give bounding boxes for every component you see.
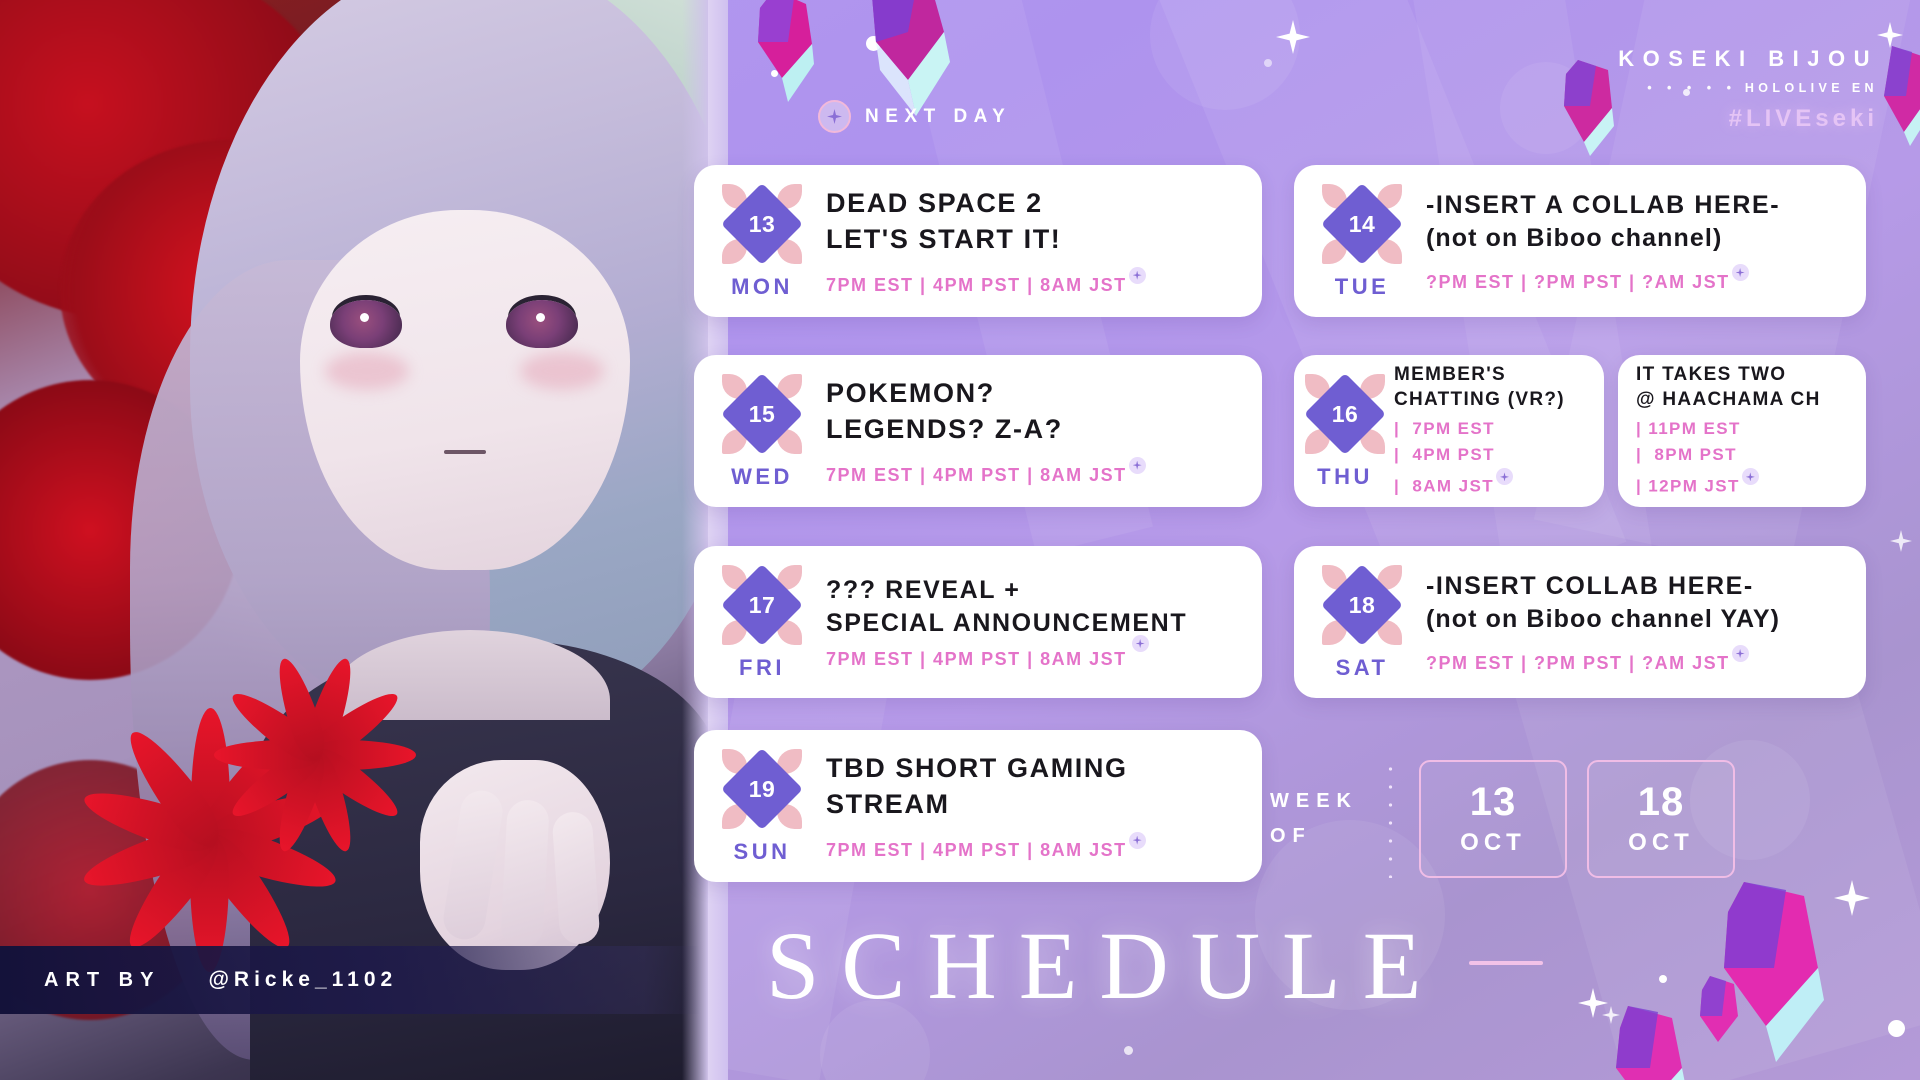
- week-start-month: OCT: [1460, 829, 1526, 857]
- sparkle-icon: [1890, 530, 1912, 552]
- schedule-title-text: SCHEDULE: [766, 918, 1443, 1014]
- date-badge: 16 THU: [1302, 372, 1388, 490]
- stream-title-line: CHATTING (VR?): [1394, 387, 1596, 412]
- date-number: 19: [720, 747, 804, 831]
- week-of-line1: WEEK: [1270, 784, 1358, 819]
- card-body: DEAD SPACE 2 LET'S START IT! 7PM EST | 4…: [814, 186, 1262, 295]
- organization-label: HOLOLIVE EN: [1745, 81, 1878, 95]
- date-badge: 17 FRI: [710, 563, 814, 681]
- character-eye-highlight: [536, 313, 545, 322]
- date-badge: 14 TUE: [1310, 182, 1414, 300]
- crystal-icon: [1594, 1000, 1702, 1080]
- time-row: | 8AM JST: [1394, 468, 1596, 500]
- stream-title-line: IT TAKES TWO: [1636, 362, 1856, 387]
- week-end-month: OCT: [1628, 829, 1694, 857]
- time-row: | 7PM EST: [1394, 416, 1596, 442]
- stream-title-line: SPECIAL ANNOUNCEMENT: [826, 607, 1244, 640]
- panel-divider-strip: [708, 0, 728, 1080]
- week-end-day: 18: [1638, 782, 1685, 822]
- time-row: | 8PM PST: [1636, 442, 1856, 468]
- stream-title-line: @ HAACHAMA CH: [1636, 387, 1856, 412]
- schedule-graphic: ART BY @Ricke_1102 NEXT DAY KOSEKI BIJOU…: [0, 0, 1920, 1080]
- day-name: MON: [731, 274, 793, 300]
- stream-title-line: MEMBER'S: [1394, 362, 1596, 387]
- stream-title-line: ??? REVEAL +: [826, 574, 1244, 607]
- stream-times: 7PM EST | 4PM PST | 8AM JST: [826, 267, 1146, 296]
- day-name: SUN: [734, 839, 791, 865]
- stream-times: | 7PM EST | 4PM PST | 8AM JST: [1394, 416, 1596, 501]
- artwork-edge-fade: [682, 0, 708, 1080]
- character-blush: [325, 352, 409, 390]
- card-body: ??? REVEAL + SPECIAL ANNOUNCEMENT 7PM ES…: [814, 574, 1262, 670]
- day-name: THU: [1317, 464, 1373, 490]
- character-finger: [500, 799, 550, 949]
- decor-dot: [771, 70, 778, 77]
- stream-title-line: (not on Biboo channel): [1426, 222, 1848, 255]
- brand-block: KOSEKI BIJOU • • • • • HOLOLIVE EN #LIVE…: [1618, 46, 1878, 133]
- next-day-indicator: NEXT DAY: [818, 100, 1011, 133]
- sparkle-icon: [1602, 1006, 1620, 1024]
- decor-dot: [1264, 59, 1272, 67]
- day-name: TUE: [1335, 274, 1390, 300]
- crystal-icon: [738, 0, 830, 106]
- schedule-card-sun[interactable]: 19 SUN TBD SHORT GAMING STREAM 7PM EST |…: [694, 730, 1262, 882]
- week-start-box: 13 OCT: [1419, 760, 1567, 878]
- dotted-divider: [1388, 760, 1393, 878]
- date-badge: 19 SUN: [710, 747, 814, 865]
- character-mouth: [444, 450, 486, 454]
- decor-dot: [1124, 1046, 1133, 1055]
- schedule-card-tue[interactable]: 14 TUE -INSERT A COLLAB HERE- (not on Bi…: [1294, 165, 1866, 317]
- schedule-card-fri[interactable]: 17 FRI ??? REVEAL + SPECIAL ANNOUNCEMENT…: [694, 546, 1262, 698]
- decor-dot: [1888, 1020, 1905, 1037]
- week-of-label: WEEK OF: [1270, 784, 1358, 854]
- next-day-label: NEXT DAY: [865, 106, 1011, 128]
- stream-title-line: LEGENDS? Z-A?: [826, 412, 1244, 448]
- sparkle-icon: [1129, 832, 1146, 849]
- decor-dot: [1659, 975, 1667, 983]
- time-row: | 12PM JST: [1636, 468, 1856, 500]
- sparkle-icon: [818, 100, 851, 133]
- talent-name: KOSEKI BIJOU: [1618, 46, 1878, 72]
- decor-dot: [1736, 972, 1750, 986]
- date-badge: 18 SAT: [1310, 563, 1414, 681]
- character-face: [300, 210, 630, 570]
- character-eye: [506, 300, 578, 348]
- time-row: | 4PM PST: [1394, 442, 1596, 468]
- card-body: -INSERT A COLLAB HERE- (not on Biboo cha…: [1414, 189, 1866, 293]
- stream-times: 7PM EST | 4PM PST | 8AM JST: [826, 832, 1146, 861]
- week-of-line2: OF: [1270, 819, 1358, 854]
- date-number: 17: [720, 563, 804, 647]
- card-body: MEMBER'S CHATTING (VR?) | 7PM EST | 4PM …: [1388, 362, 1604, 501]
- schedule-card-sat[interactable]: 18 SAT -INSERT COLLAB HERE- (not on Bibo…: [1294, 546, 1866, 698]
- art-credit-bar: ART BY @Ricke_1102: [0, 946, 700, 1014]
- sparkle-icon: [1578, 988, 1608, 1018]
- stream-times: 7PM EST | 4PM PST | 8AM JST: [826, 649, 1127, 670]
- sparkle-icon: [1276, 20, 1310, 54]
- sparkle-icon: [1732, 645, 1749, 662]
- decor-blob: [1500, 62, 1592, 154]
- stream-title-line: (not on Biboo channel YAY): [1426, 603, 1848, 636]
- day-name: WED: [731, 464, 793, 490]
- week-start-day: 13: [1470, 782, 1517, 822]
- dot-separator: • • • • •: [1647, 81, 1737, 95]
- date-number: 15: [720, 372, 804, 456]
- stream-times: ?PM EST | ?PM PST | ?AM JST: [1426, 645, 1749, 674]
- stream-title-line: LET'S START IT!: [826, 222, 1244, 258]
- date-badge: 13 MON: [710, 182, 814, 300]
- date-badge: 15 WED: [710, 372, 814, 490]
- day-name: FRI: [739, 655, 785, 681]
- schedule-card-wed[interactable]: 15 WED POKEMON? LEGENDS? Z-A? 7PM EST | …: [694, 355, 1262, 507]
- sparkle-icon: [1129, 267, 1146, 284]
- date-number: 13: [720, 182, 804, 266]
- sparkle-icon: [1496, 468, 1513, 485]
- stream-times: ?PM EST | ?PM PST | ?AM JST: [1426, 264, 1749, 293]
- crystal-icon: [1550, 56, 1626, 160]
- stream-title-line: DEAD SPACE 2: [826, 186, 1244, 222]
- sparkle-icon: [1129, 457, 1146, 474]
- crystal-icon: [1878, 40, 1920, 150]
- stream-title-line: TBD SHORT GAMING: [826, 751, 1244, 787]
- stream-title-line: -INSERT COLLAB HERE-: [1426, 570, 1848, 603]
- art-credit-handle: @Ricke_1102: [208, 968, 397, 992]
- date-number: 18: [1320, 563, 1404, 647]
- sparkle-icon: [1732, 264, 1749, 281]
- crystal-icon: [1690, 972, 1752, 1056]
- card-body: POKEMON? LEGENDS? Z-A? 7PM EST | 4PM PST…: [814, 376, 1262, 485]
- date-number: 14: [1320, 182, 1404, 266]
- character-eye-highlight: [360, 313, 369, 322]
- card-body: -INSERT COLLAB HERE- (not on Biboo chann…: [1414, 570, 1866, 674]
- stream-title-line: -INSERT A COLLAB HERE-: [1426, 189, 1848, 222]
- character-eye: [330, 300, 402, 348]
- schedule-card-thu-second[interactable]: IT TAKES TWO @ HAACHAMA CH | 11PM EST | …: [1618, 355, 1866, 507]
- crystal-icon: [1694, 876, 1844, 1066]
- sparkle-icon: [1834, 880, 1870, 916]
- stream-title-line: STREAM: [826, 787, 1244, 823]
- week-end-box: 18 OCT: [1587, 760, 1735, 878]
- art-credit-label: ART BY: [44, 969, 160, 992]
- stream-times: | 11PM EST | 8PM PST | 12PM JST: [1636, 416, 1856, 501]
- organization-line: • • • • • HOLOLIVE EN: [1618, 81, 1878, 95]
- date-number: 16: [1303, 372, 1387, 456]
- schedule-title: SCHEDULE: [766, 918, 1543, 1014]
- schedule-card-thu[interactable]: 16 THU MEMBER'S CHATTING (VR?) | 7PM EST…: [1294, 355, 1604, 507]
- stream-hashtag: #LIVEseki: [1618, 105, 1878, 133]
- sparkle-icon: [1877, 22, 1903, 48]
- decor-blob: [1150, 0, 1300, 110]
- stream-title-line: POKEMON?: [826, 376, 1244, 412]
- sparkle-icon: [1742, 468, 1759, 485]
- card-body: TBD SHORT GAMING STREAM 7PM EST | 4PM PS…: [814, 751, 1262, 860]
- character-artwork: [0, 0, 708, 1080]
- schedule-card-mon[interactable]: 13 MON DEAD SPACE 2 LET'S START IT! 7PM …: [694, 165, 1262, 317]
- card-body: IT TAKES TWO @ HAACHAMA CH | 11PM EST | …: [1618, 362, 1866, 501]
- day-name: SAT: [1336, 655, 1389, 681]
- time-row: | 11PM EST: [1636, 416, 1856, 442]
- stream-times: 7PM EST | 4PM PST | 8AM JST: [826, 457, 1146, 486]
- sparkle-icon: [1132, 635, 1149, 652]
- character-blush: [520, 352, 604, 390]
- week-of-block: WEEK OF 13 OCT 18 OCT: [1270, 760, 1755, 878]
- decor-dot: [866, 36, 881, 51]
- title-dash: [1469, 961, 1543, 965]
